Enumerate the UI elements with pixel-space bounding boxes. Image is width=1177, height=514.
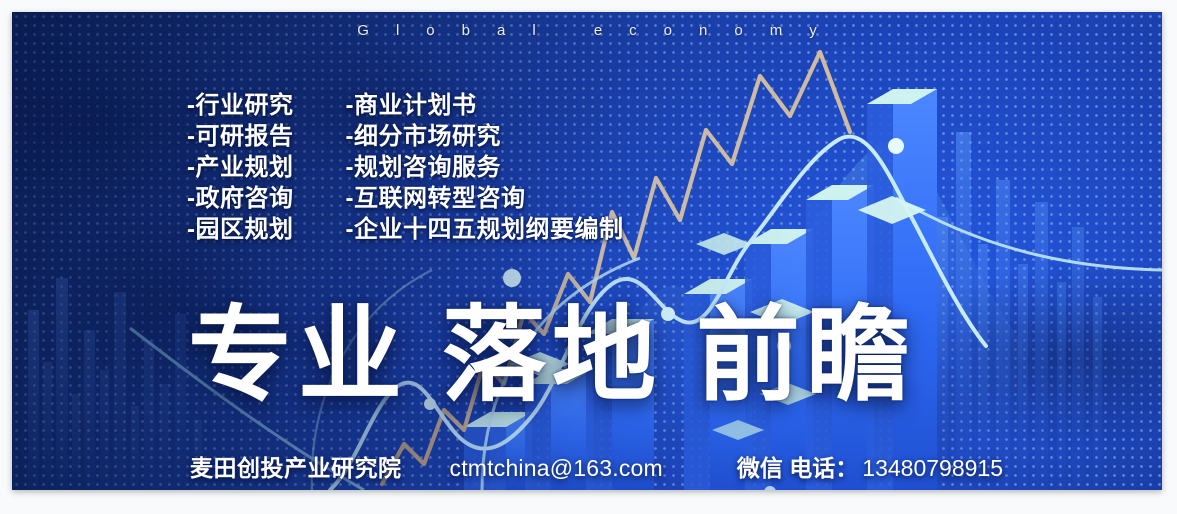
wechat-phone-label: 微信 电话：: [737, 449, 858, 483]
service-item: -商业计划书: [346, 90, 624, 121]
page-title: 专业落地前瞻: [188, 304, 916, 408]
service-item: -行业研究: [187, 90, 294, 121]
service-item: -企业十四五规划纲要编制: [346, 214, 624, 245]
service-column-left: -行业研究 -可研报告 -产业规划 -政府咨询 -园区规划: [187, 90, 294, 245]
screenshot-root: Global economy -行业研究 -可研报告 -产业规划 -政府咨询 -…: [0, 0, 1177, 514]
service-column-right: -商业计划书 -细分市场研究 -规划咨询服务 -互联网转型咨询 -企业十四五规划…: [346, 90, 624, 245]
headline-part-2: 落地: [442, 298, 662, 414]
contact-footer: 麦田创投产业研究院 ctmtchina@163.com 微信 电话： 13480…: [190, 449, 1003, 483]
promo-banner: Global economy -行业研究 -可研报告 -产业规划 -政府咨询 -…: [12, 12, 1162, 490]
left-vignette-overlay: [12, 12, 1162, 490]
service-item: -产业规划: [187, 152, 294, 183]
service-item: -可研报告: [187, 121, 294, 152]
service-item: -园区规划: [187, 214, 294, 245]
service-item: -互联网转型咨询: [346, 183, 624, 214]
phone-number[interactable]: 13480798915: [862, 455, 1003, 482]
headline-part-3: 前瞻: [696, 298, 916, 414]
service-lists: -行业研究 -可研报告 -产业规划 -政府咨询 -园区规划 -商业计划书 -细分…: [187, 90, 624, 245]
service-item: -规划咨询服务: [346, 152, 624, 183]
banner-header-word: Global economy: [12, 14, 1162, 48]
organization-name: 麦田创投产业研究院: [190, 449, 402, 483]
headline-part-1: 专业: [188, 298, 408, 414]
service-item: -政府咨询: [187, 183, 294, 214]
service-item: -细分市场研究: [346, 121, 624, 152]
email-address[interactable]: ctmtchina@163.com: [450, 455, 663, 482]
